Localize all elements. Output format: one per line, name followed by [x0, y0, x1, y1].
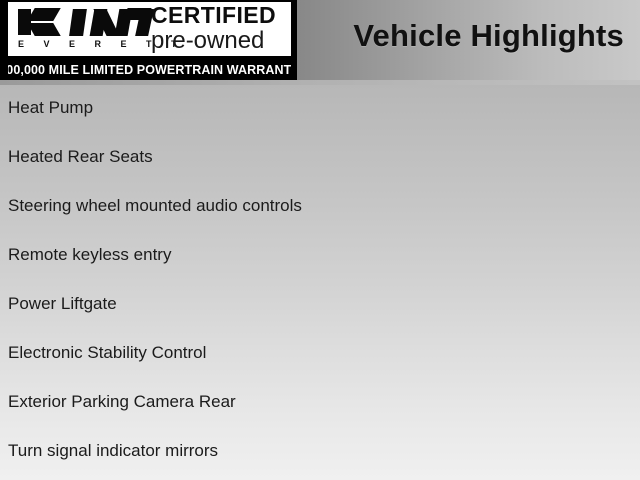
page-title: Vehicle Highlights [353, 18, 624, 54]
certified-preowned-block: CERTIFIED pre-owned [151, 2, 285, 54]
dealer-certified-badge: E V E R E T T CERTIFIED pre-owned 100,00… [0, 0, 297, 84]
certified-label: CERTIFIED [151, 2, 285, 28]
list-item: Electronic Stability Control [8, 343, 640, 392]
page-header: E V E R E T T CERTIFIED pre-owned 100,00… [0, 0, 640, 85]
list-item: Exterior Parking Camera Rear [8, 392, 640, 441]
badge-card: E V E R E T T CERTIFIED pre-owned 100,00… [8, 2, 291, 82]
list-item: Heat Pump [8, 98, 640, 147]
kia-logo-icon [16, 6, 156, 38]
list-item: Steering wheel mounted audio controls [8, 196, 640, 245]
list-item: Heated Rear Seats [8, 147, 640, 196]
list-item: Remote keyless entry [8, 245, 640, 294]
list-item: Turn signal indicator mirrors [8, 441, 640, 480]
warranty-banner: 100,000 MILE LIMITED POWERTRAIN WARRANTY [8, 56, 291, 82]
vehicle-highlights-list: Heat Pump Heated Rear Seats Steering whe… [0, 85, 640, 480]
dealer-city-label: E V E R E T T [18, 39, 163, 49]
vehicle-highlights-page: E V E R E T T CERTIFIED pre-owned 100,00… [0, 0, 640, 480]
list-item: Power Liftgate [8, 294, 640, 343]
pre-owned-label: pre-owned [151, 27, 285, 54]
